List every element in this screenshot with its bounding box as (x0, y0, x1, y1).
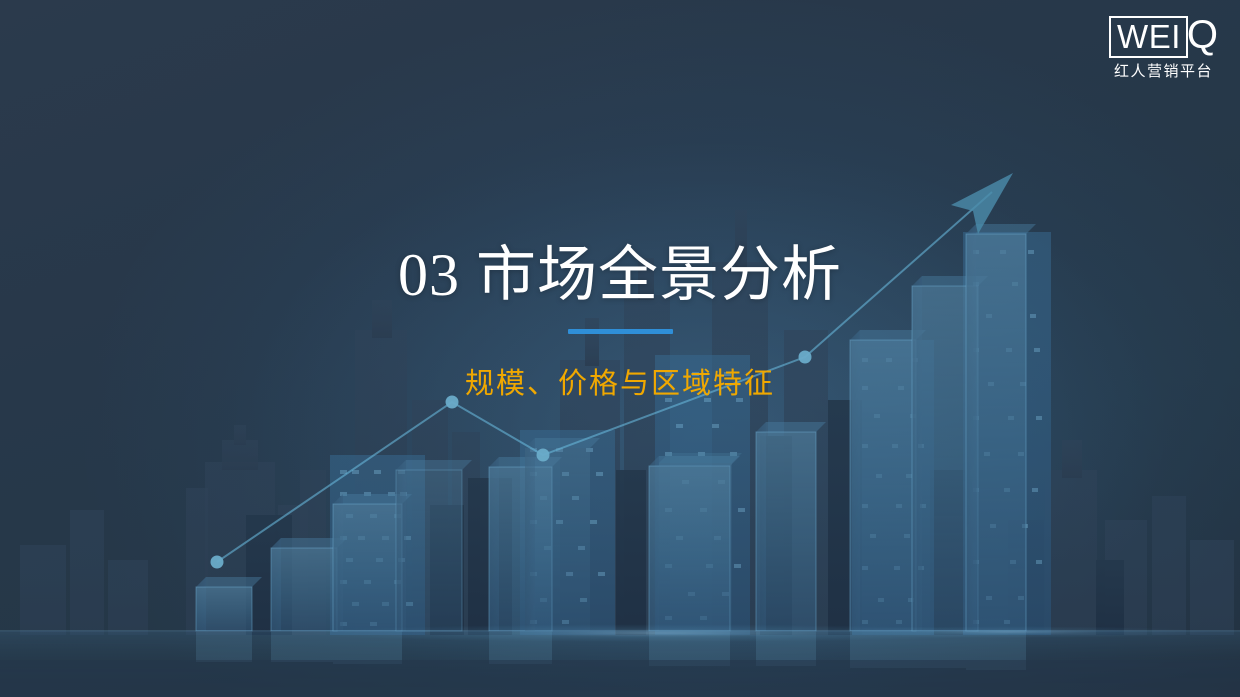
bar-3 (333, 494, 412, 631)
brand-logo: WEI Q 红人营销平台 (1109, 16, 1218, 79)
bar-5 (489, 457, 562, 631)
title-underline-rule (568, 329, 673, 334)
trend-point-3 (537, 449, 550, 462)
bar-8 (659, 453, 742, 631)
logo-tagline: 红人营销平台 (1109, 64, 1218, 79)
bar-2 (271, 538, 347, 631)
logo-wei-text: WEI (1117, 20, 1181, 53)
bar-1 (196, 577, 262, 631)
title-block: 03 市场全景分析 规模、价格与区域特征 (0, 244, 1240, 402)
skyline-near (246, 400, 1124, 635)
bar-9 (756, 422, 826, 631)
ground-reflection (0, 624, 1240, 697)
bar-6 (525, 438, 600, 631)
logo-wordmark: WEI Q (1109, 16, 1218, 58)
trend-point-1 (211, 556, 224, 569)
logo-q-text: Q (1187, 16, 1218, 58)
page-title: 03 市场全景分析 (0, 244, 1240, 307)
page-subtitle: 规模、价格与区域特征 (0, 360, 1240, 402)
bar-7 (649, 456, 740, 631)
ambient-haze (230, 140, 1170, 697)
logo-box: WEI (1109, 16, 1188, 58)
bar-4 (396, 460, 472, 631)
trend-arrow-head (951, 173, 1013, 234)
slide-root: WEI Q 红人营销平台 03 市场全景分析 规模、价格与区域特征 (0, 0, 1240, 697)
